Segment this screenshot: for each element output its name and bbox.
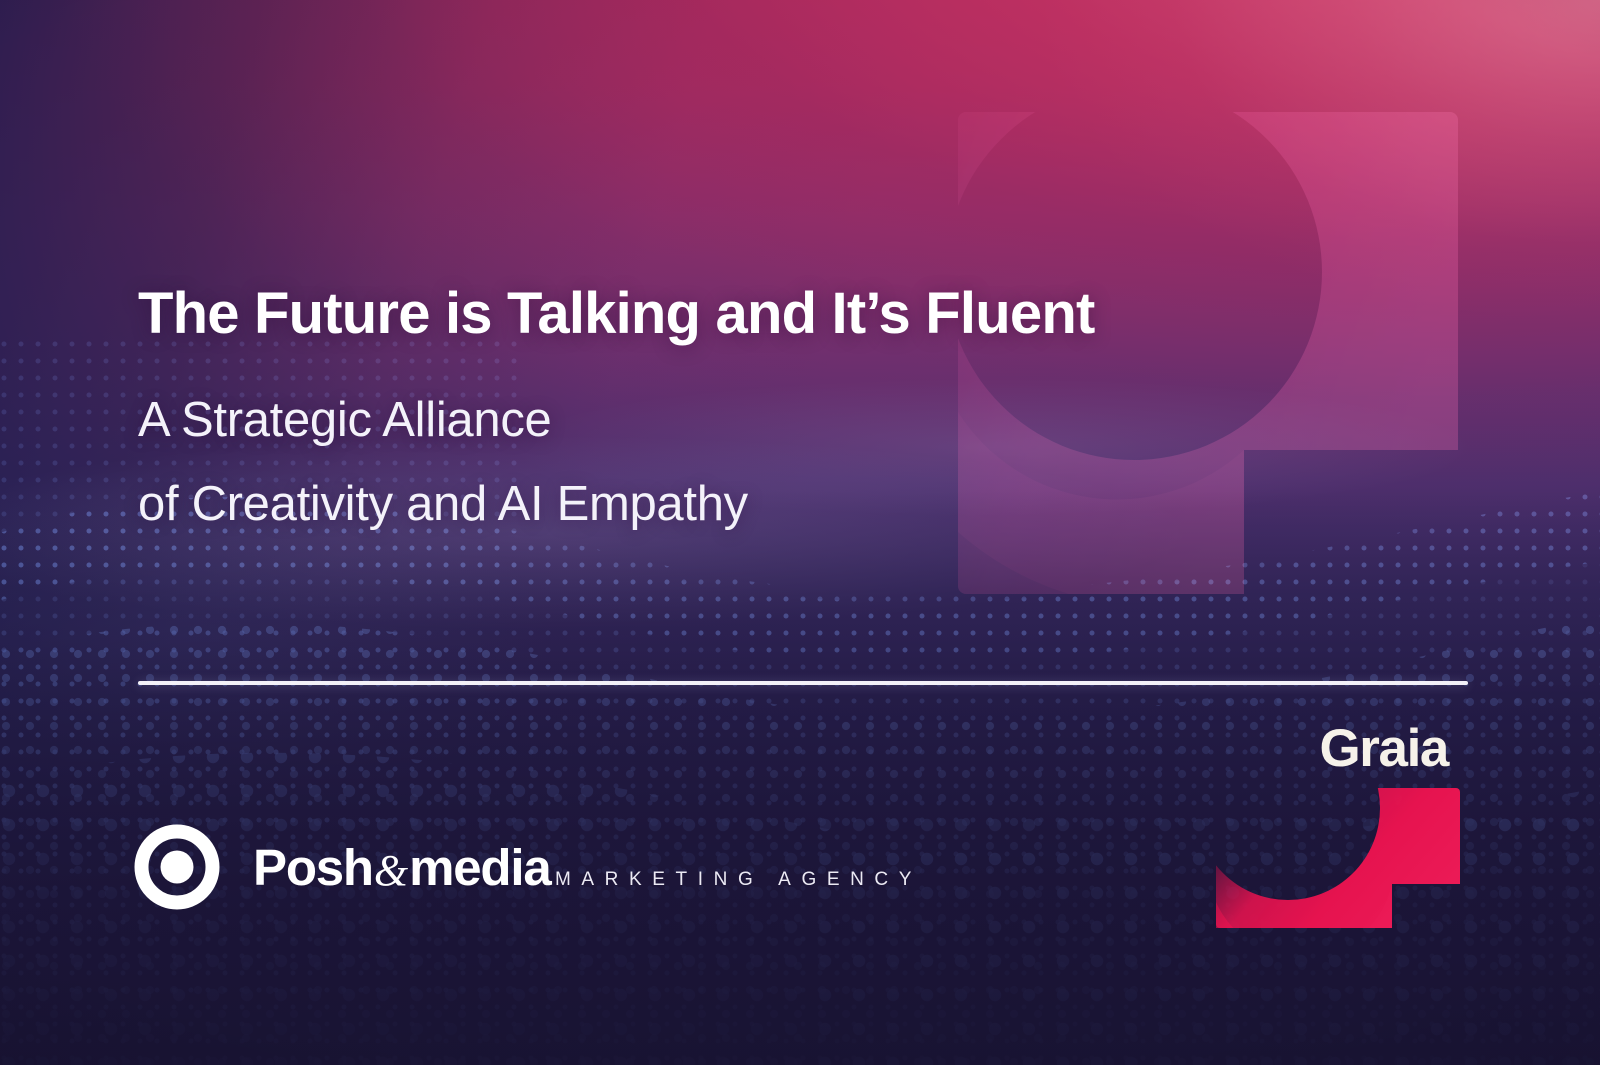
page-title: The Future is Talking and It’s Fluent xyxy=(138,283,1094,346)
graia-g-mark-icon xyxy=(1216,788,1460,928)
ring-dot-icon xyxy=(134,824,220,910)
subtitle-line-1: A Strategic Alliance xyxy=(138,378,748,462)
posh-media-logo: Posh&media MARKETING AGENCY xyxy=(134,824,922,910)
slide-canvas: The Future is Talking and It’s Fluent A … xyxy=(0,0,1600,1065)
posh-word: Posh xyxy=(253,839,373,896)
posh-media-wordmark-group: Posh&media MARKETING AGENCY xyxy=(253,842,922,893)
graia-logo: Graia xyxy=(1208,722,1460,928)
graia-wordmark: Graia xyxy=(1319,722,1448,775)
subtitle-line-2: of Creativity and AI Empathy xyxy=(138,462,748,546)
posh-media-tagline: MARKETING AGENCY xyxy=(555,869,922,890)
divider xyxy=(138,681,1468,685)
posh-media-wordmark: Posh&media xyxy=(253,839,551,896)
ampersand: & xyxy=(373,846,409,895)
page-subtitle: A Strategic Alliance of Creativity and A… xyxy=(138,378,748,547)
media-word: media xyxy=(409,839,550,896)
